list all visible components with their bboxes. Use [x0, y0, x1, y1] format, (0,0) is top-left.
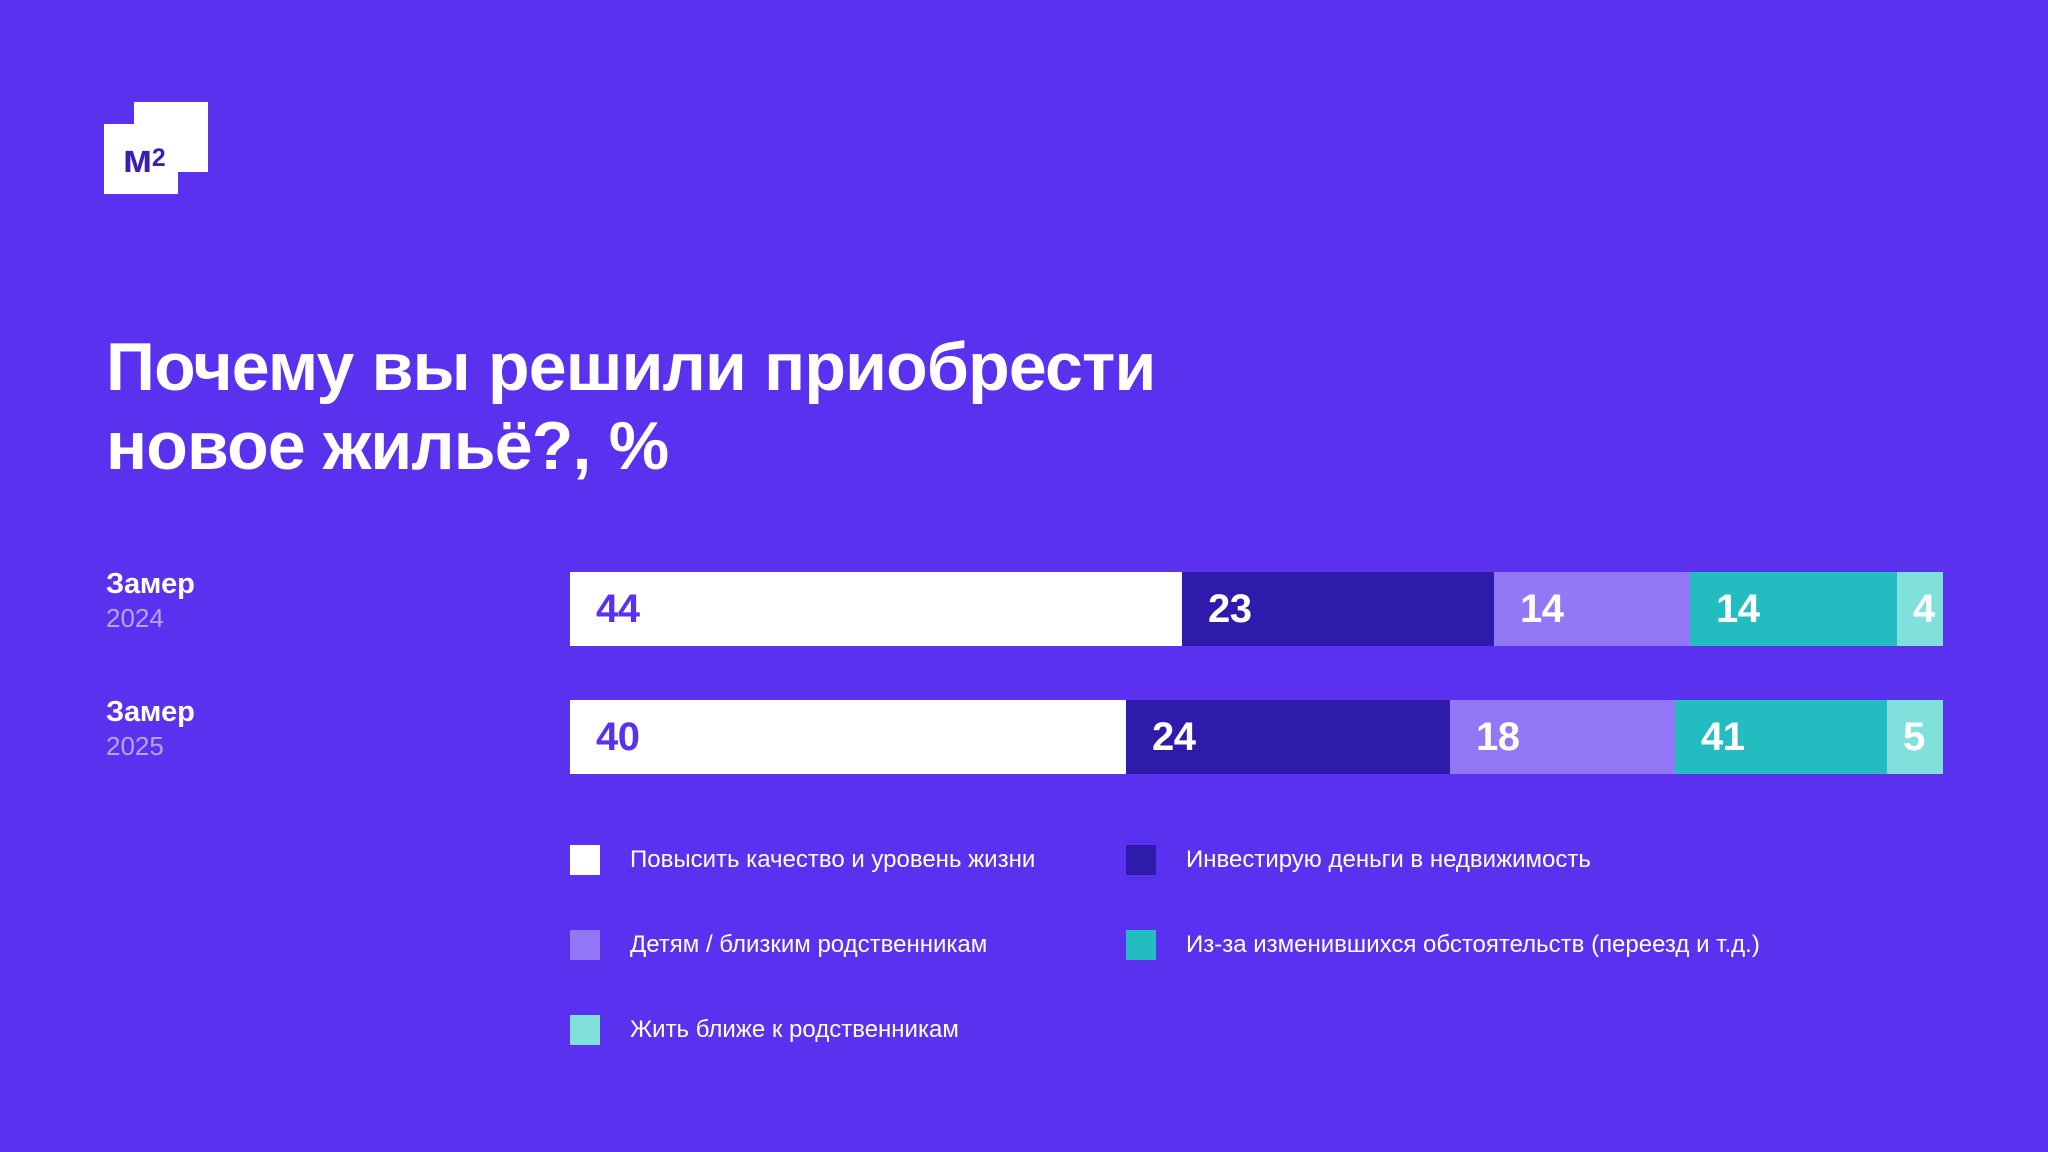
legend-item-circumstances[interactable]: Из-за изменившихся обстоятельств (переез…	[1126, 930, 1760, 960]
row-label-name: Замер	[106, 568, 526, 600]
bar-segment-closer-2025[interactable]: 5	[1887, 700, 1943, 774]
legend-swatch-icon	[1126, 930, 1156, 960]
bar-segment-children-2024[interactable]: 14	[1494, 572, 1690, 646]
legend-row-3: Жить ближе к родственникам	[570, 1015, 1970, 1100]
bar-segment-circumstances-2025[interactable]: 41	[1675, 700, 1887, 774]
row-label-year: 2024	[106, 602, 526, 635]
bar-segment-value: 4	[1897, 589, 1935, 629]
legend-row-2: Детям / близким родственникам Из-за изме…	[570, 930, 1970, 1015]
bar-2024: 44 23 14 14 4	[570, 572, 1943, 646]
legend-swatch-icon	[1126, 845, 1156, 875]
bar-segment-value: 14	[1690, 589, 1760, 629]
bar-segment-investment-2025[interactable]: 24	[1126, 700, 1450, 774]
bar-segment-value: 14	[1494, 589, 1564, 629]
bar-segment-closer-2024[interactable]: 4	[1897, 572, 1943, 646]
row-label-2025: Замер 2025	[106, 696, 526, 763]
legend-item-quality[interactable]: Повысить качество и уровень жизни	[570, 845, 1035, 875]
legend-swatch-icon	[570, 930, 600, 960]
legend-label: Детям / близким родственникам	[630, 931, 987, 960]
legend-item-closer[interactable]: Жить ближе к родственникам	[570, 1015, 959, 1045]
infographic-slide: м2 Почему вы решили приобрести новое жил…	[0, 0, 2048, 1152]
bar-segment-value: 44	[570, 589, 640, 629]
legend-item-children[interactable]: Детям / близким родственникам	[570, 930, 987, 960]
bar-segment-circumstances-2024[interactable]: 14	[1690, 572, 1897, 646]
bar-segment-quality-2024[interactable]: 44	[570, 572, 1182, 646]
legend-label: Инвестирую деньги в недвижимость	[1186, 846, 1591, 875]
bar-segment-value: 18	[1450, 717, 1520, 757]
bar-segment-quality-2025[interactable]: 40	[570, 700, 1126, 774]
row-label-year: 2025	[106, 730, 526, 763]
legend-swatch-icon	[570, 845, 600, 875]
bar-segment-value: 40	[570, 717, 640, 757]
legend-row-1: Повысить качество и уровень жизни Инвест…	[570, 845, 1970, 930]
bar-segment-value: 23	[1182, 589, 1252, 629]
legend-label: Из-за изменившихся обстоятельств (переез…	[1186, 931, 1760, 960]
row-label-name: Замер	[106, 696, 526, 728]
legend-swatch-icon	[570, 1015, 600, 1045]
legend-item-investment[interactable]: Инвестирую деньги в недвижимость	[1126, 845, 1591, 875]
legend-label: Повысить качество и уровень жизни	[630, 846, 1035, 875]
bar-segment-value: 5	[1887, 717, 1925, 757]
chart-legend: Повысить качество и уровень жизни Инвест…	[570, 845, 1970, 1100]
bar-segment-children-2025[interactable]: 18	[1450, 700, 1675, 774]
stacked-bar-chart: Замер 2024 44 23 14 14 4	[0, 0, 2048, 1152]
bar-segment-value: 24	[1126, 717, 1196, 757]
bar-segment-value: 41	[1675, 717, 1745, 757]
bar-segment-investment-2024[interactable]: 23	[1182, 572, 1494, 646]
legend-label: Жить ближе к родственникам	[630, 1016, 959, 1045]
bar-2025: 40 24 18 41 5	[570, 700, 1943, 774]
row-label-2024: Замер 2024	[106, 568, 526, 635]
